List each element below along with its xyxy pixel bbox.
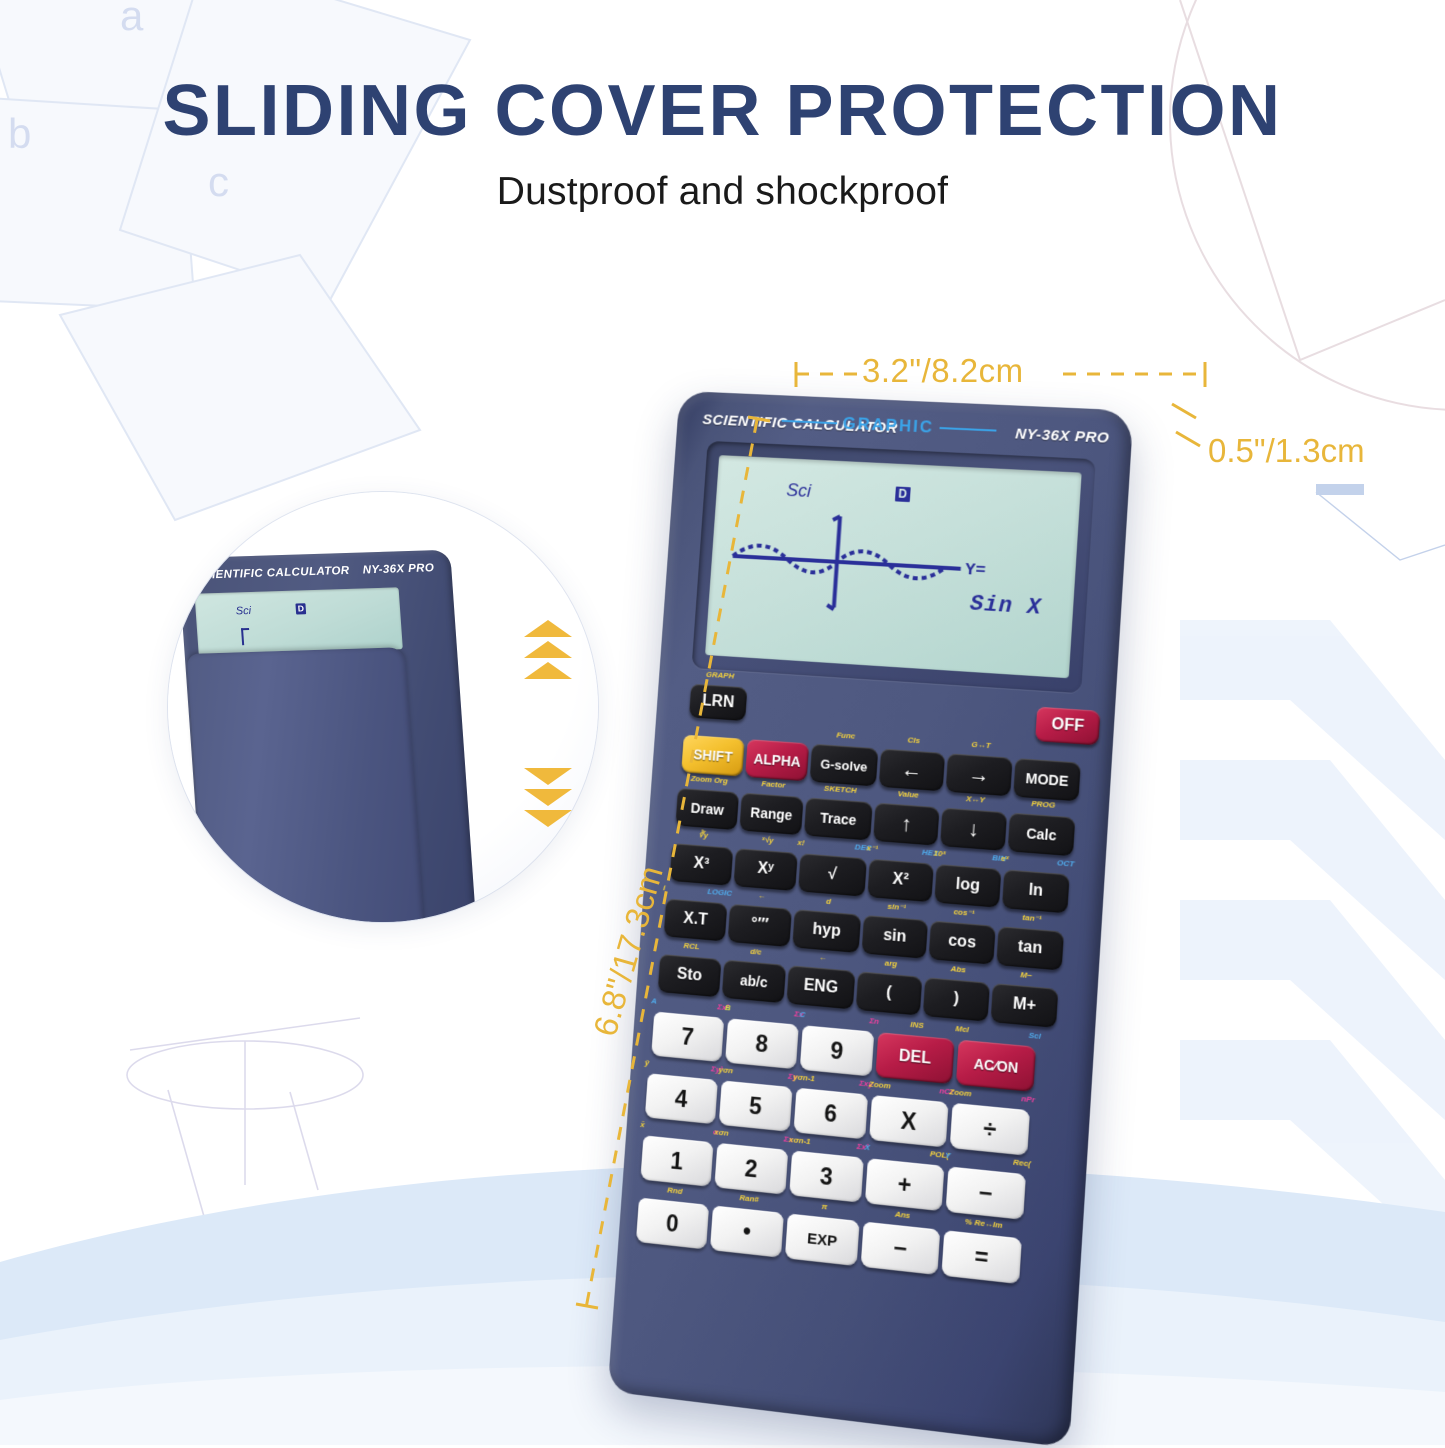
dimension-guides	[0, 0, 1445, 1445]
dimension-depth: 0.5"/1.3cm	[1208, 432, 1365, 470]
dimension-width: 3.2"/8.2cm	[862, 352, 1024, 390]
